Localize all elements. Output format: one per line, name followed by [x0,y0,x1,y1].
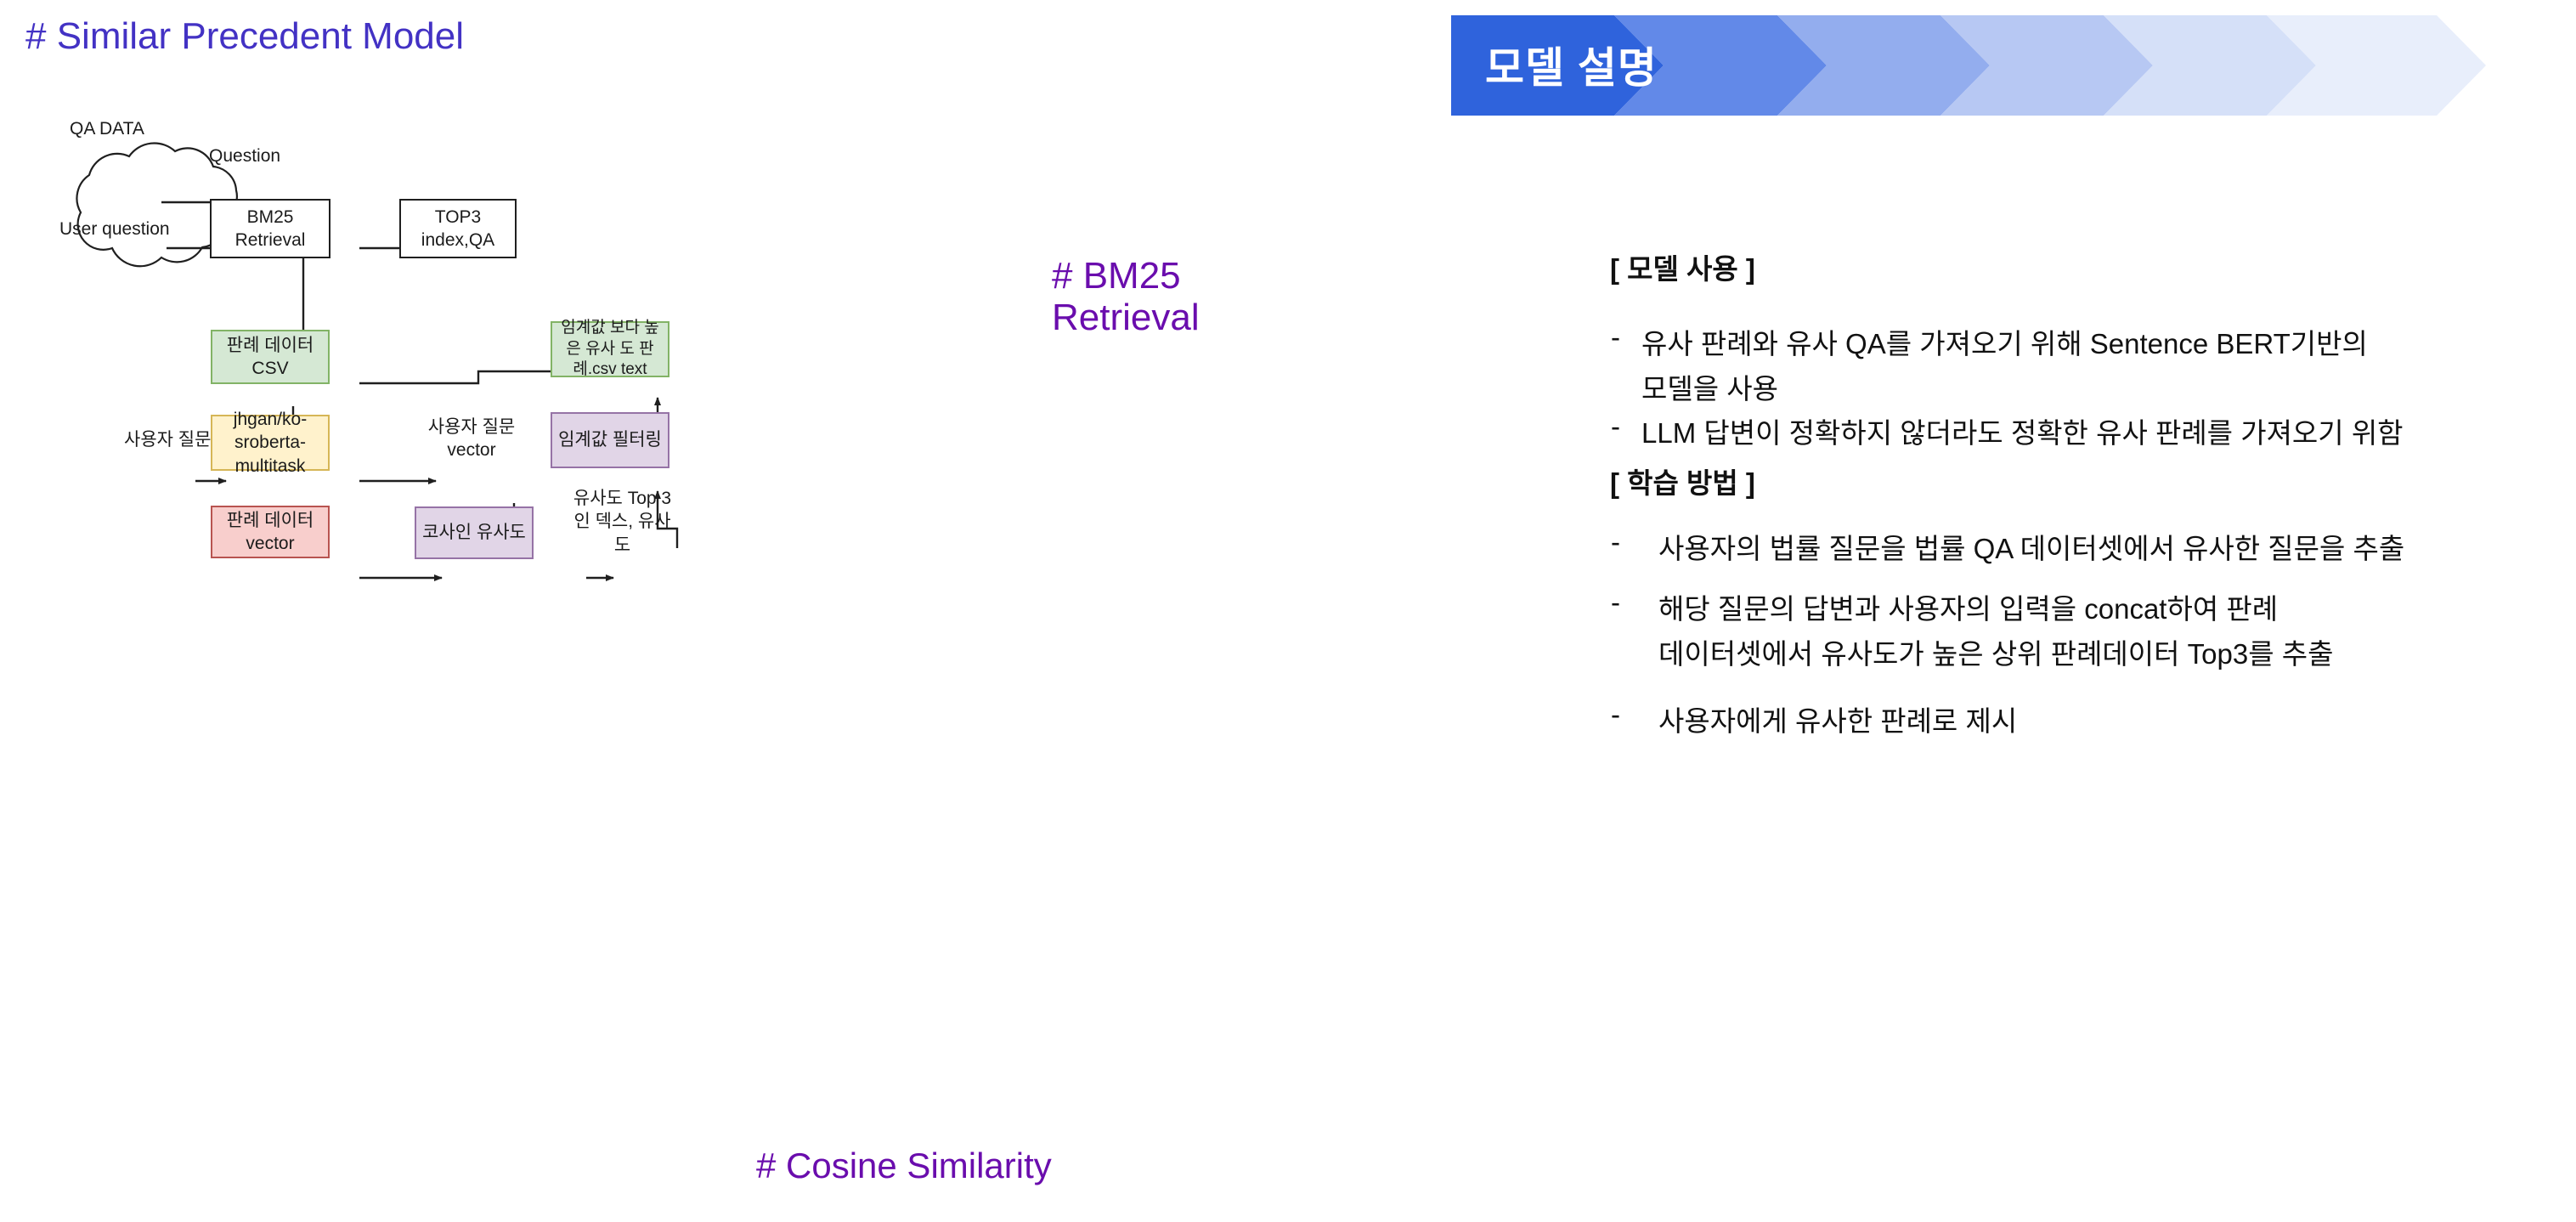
bullet-dash: - [1611,321,1620,354]
node-threshold-filter: 임계값 필터링 [551,412,669,468]
node-top3-index-qa: TOP3 index,QA [399,199,517,258]
bullet-dash: - [1611,410,1620,443]
section-heading-training-method: [ 학습 방법 ] [1610,461,1755,501]
user-question-label-top: User question [59,219,170,240]
edge-label-question: Question [209,146,280,167]
bullet-dash: - [1611,699,1620,731]
node-threshold-output-csv: 임계값 보다 높은 유사 도 판례.csv text [551,321,669,377]
bullet-training-3: 사용자에게 유사한 판례로 제시 [1658,699,2572,744]
bullet-training-2: 해당 질문의 답변과 사용자의 입력을 concat하여 판례 데이터셋에서 유… [1658,586,2572,677]
diagram-connectors [0,0,1444,1222]
node-precedent-vector: 판례 데이터 vector [211,506,330,558]
annotation-bm25-retrieval: # BM25 Retrieval [1052,255,1200,339]
slide-right-panel: 모델 설명 [ 모델 사용 ] - 유사 판례와 유사 QA를 가져오기 위해 … [1444,0,2576,1222]
bullet-model-usage-2: LLM 답변이 정확하지 않더라도 정확한 유사 판례를 가져오기 위함 [1641,410,2568,455]
banner-title: 모델 설명 [1485,34,1658,95]
node-bm25-retrieval: BM25 Retrieval [210,199,330,258]
qa-data-label: QA DATA [70,119,144,139]
topk-output-label: 유사도 Top 3 인 덱스, 유사도 [561,495,684,548]
section-heading-model-usage: [ 모델 사용 ] [1610,246,1755,287]
user-question-vector-label: 사용자 질문 vector [421,412,523,465]
bullet-dash: - [1611,586,1620,619]
node-precedent-csv: 판례 데이터 CSV [211,330,330,384]
annotation-cosine-similarity: # Cosine Similarity [756,1146,1052,1185]
bullet-training-1: 사용자의 법률 질문을 법률 QA 데이터셋에서 유사한 질문을 추출 [1658,526,2572,571]
bullet-dash: - [1611,526,1620,558]
node-cosine-similarity: 코사인 유사도 [415,506,534,559]
slide-left-panel: # Similar Precedent Model [0,0,1444,1222]
user-question-label-bottom: 사용자 질문 [119,423,246,457]
bullet-model-usage-1: 유사 판례와 유사 QA를 가져오기 위해 Sentence BERT기반의 모… [1641,321,2568,412]
